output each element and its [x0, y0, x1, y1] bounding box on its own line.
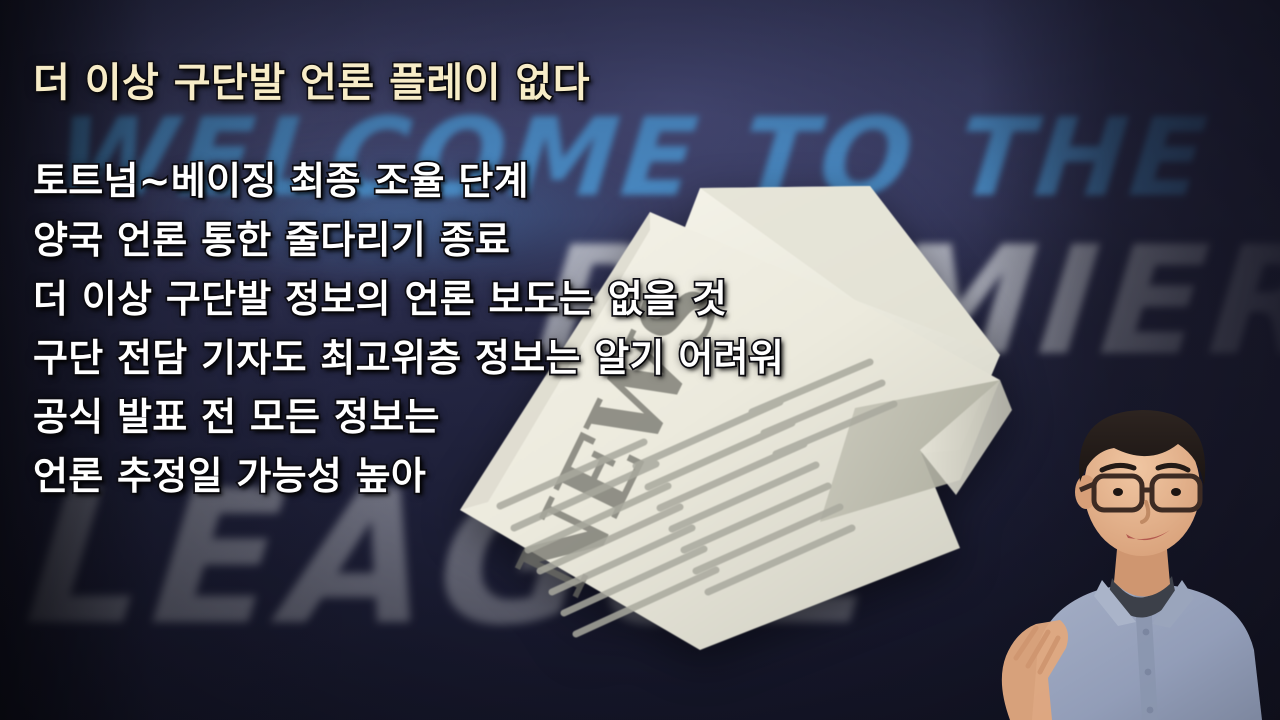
list-item: 양국 언론 통한 줄다리기 종료	[33, 211, 784, 270]
list-item: 더 이상 구단발 정보의 언론 보도는 없을 것	[33, 270, 784, 329]
presenter-shirt-button	[1145, 669, 1152, 676]
list-item: 공식 발표 전 모든 정보는	[33, 388, 784, 447]
list-item: 언론 추정일 가능성 높아	[33, 447, 784, 506]
bullet-list: 토트넘~베이징 최종 조율 단계 양국 언론 통한 줄다리기 종료 더 이상 구…	[33, 152, 784, 506]
page-title: 더 이상 구단발 언론 플레이 없다	[33, 50, 590, 108]
presenter-figure	[990, 370, 1280, 720]
video-frame: WELCOME TO THE PREMIER LEAGUE	[0, 0, 1280, 720]
list-item: 구단 전담 기자도 최고위층 정보는 알기 어려워	[33, 329, 784, 388]
list-item: 토트넘~베이징 최종 조율 단계	[33, 152, 784, 211]
presenter-eye	[1113, 488, 1123, 496]
presenter-shirt-button	[1147, 707, 1154, 714]
presenter-eye	[1171, 488, 1181, 496]
presenter-shirt-button	[1143, 629, 1150, 636]
